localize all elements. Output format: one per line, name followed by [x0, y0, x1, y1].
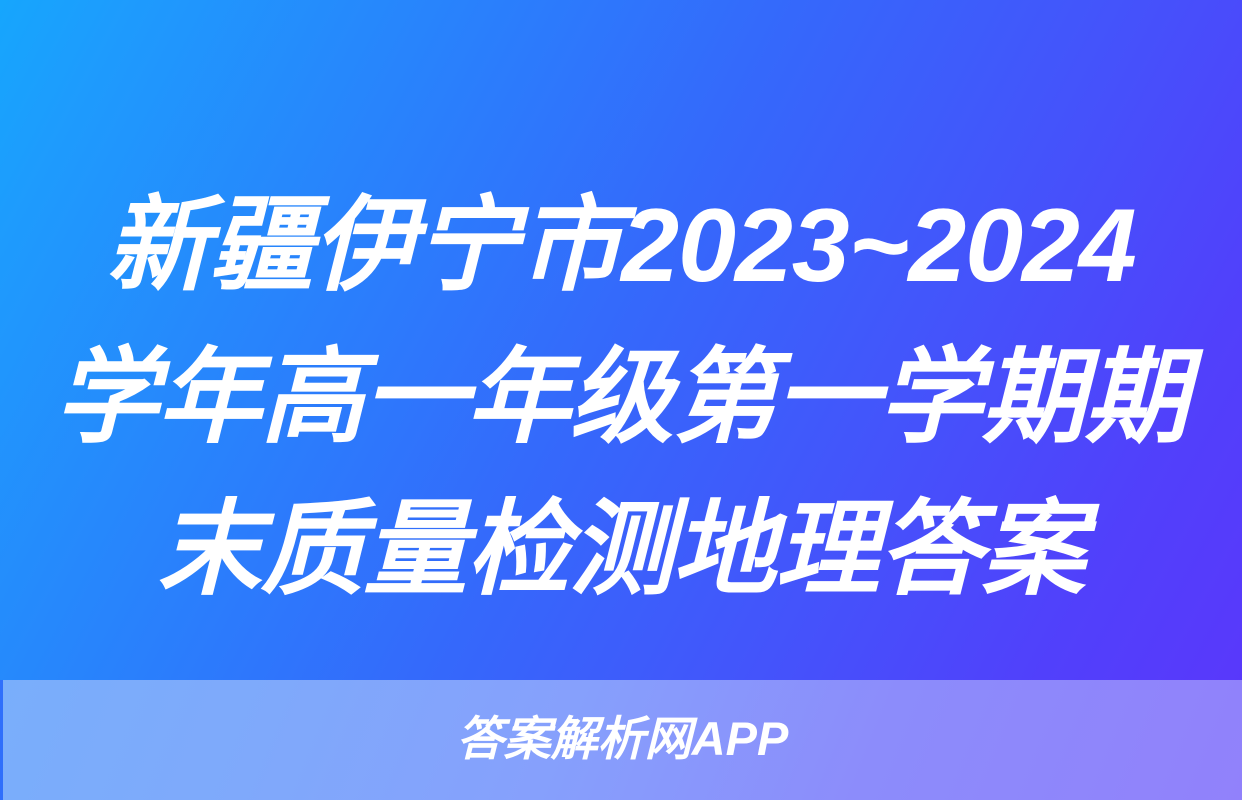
title-line-1: 新疆伊宁市2023~2024 — [36, 170, 1206, 322]
footer-watermark-bar: 答案解析网APP — [3, 680, 1242, 800]
poster-canvas: 新疆伊宁市2023~2024 学年高一年级第一学期期 末质量检测地理答案 答案解… — [0, 0, 1242, 800]
title-line-3: 末质量检测地理答案 — [36, 474, 1206, 626]
title-line-2: 学年高一年级第一学期期 — [36, 322, 1206, 474]
watermark-label: 答案解析网APP — [457, 715, 789, 762]
page-title: 新疆伊宁市2023~2024 学年高一年级第一学期期 末质量检测地理答案 — [0, 170, 1242, 626]
